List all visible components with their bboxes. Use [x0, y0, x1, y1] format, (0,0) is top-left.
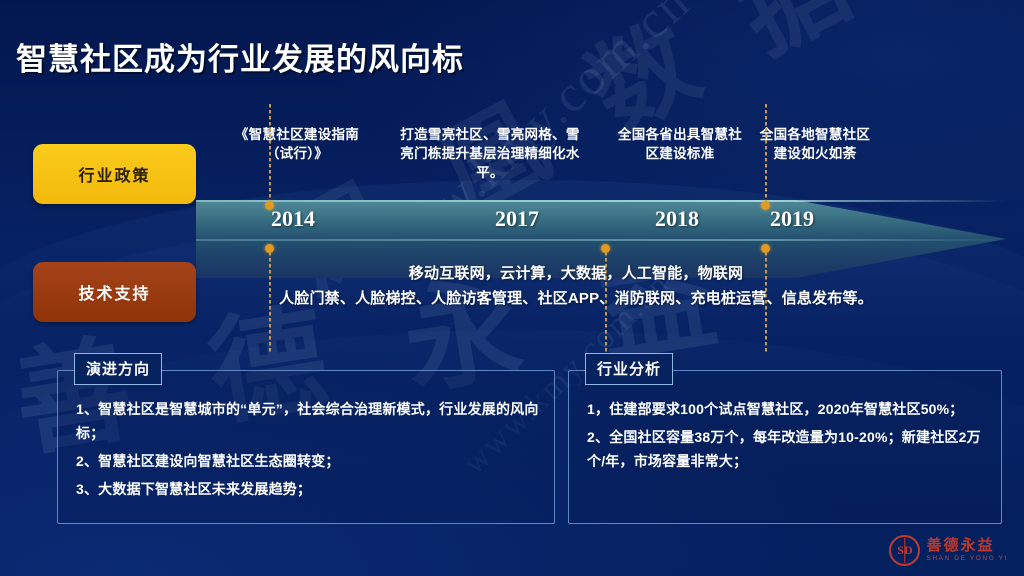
- milestone-text-2019: 全国各地智慧社区建设如火如荼: [755, 125, 875, 163]
- milestone-year-2018: 2018: [655, 206, 699, 232]
- panel-industry-analysis: 行业分析 1，住建部要求100个试点智慧社区，2020年智慧社区50%； 2、全…: [568, 370, 1002, 524]
- panel-evolution-direction: 演进方向 1、智慧社区是智慧城市的“单元”，社会综合治理新模式，行业发展的风向标…: [57, 370, 555, 524]
- milestone-text-2017: 打造雪亮社区、雪亮网格、雪亮门栋提升基层治理精细化水平。: [400, 125, 580, 182]
- tech-support-line-1: 移动互联网，云计算，大数据，人工智能，物联网: [196, 262, 956, 287]
- milestone-dot-2019: [761, 201, 770, 210]
- panel-line: 2、全国社区容量38万个，每年改造量为10-20%；新建社区2万个/年，市场容量…: [587, 425, 989, 473]
- logo-emblem-icon: SD: [889, 535, 920, 566]
- panel-line: 2、智慧社区建设向智慧社区生态圈转变；: [76, 449, 542, 473]
- panel-tab-evolution-direction: 演进方向: [74, 353, 162, 385]
- panel-tab-industry-analysis: 行业分析: [585, 353, 673, 385]
- panel-line: 1、智慧社区是智慧城市的“单元”，社会综合治理新模式，行业发展的风向标；: [76, 397, 542, 445]
- logo-name-cn: 善德永益: [926, 538, 1008, 553]
- tech-support-line-2: 人脸门禁、人脸梯控、人脸访客管理、社区APP、消防联网、充电桩运营、信息发布等。: [196, 287, 956, 312]
- milestone-text-2018: 全国各省出具智慧社区建设标准: [615, 125, 745, 163]
- panel-line: 1，住建部要求100个试点智慧社区，2020年智慧社区50%；: [587, 397, 989, 421]
- panel-body-evolution-direction: 1、智慧社区是智慧城市的“单元”，社会综合治理新模式，行业发展的风向标； 2、智…: [76, 397, 542, 505]
- timeline-arrow-top-edge: [196, 200, 1006, 202]
- timeline-arrow-highlight: [196, 200, 1006, 238]
- milestone-year-2014: 2014: [271, 206, 315, 232]
- tech-support-text: 移动互联网，云计算，大数据，人工智能，物联网 人脸门禁、人脸梯控、人脸访客管理、…: [196, 262, 956, 312]
- milestone-text-2014: 《智慧社区建设指南（试行）》: [232, 125, 362, 163]
- logo-text: 善德永益 SHAN DE YONG YI: [926, 538, 1008, 563]
- milestone-year-2017: 2017: [495, 206, 539, 232]
- company-logo: SD 善德永益 SHAN DE YONG YI: [889, 535, 1008, 566]
- page-title: 智慧社区成为行业发展的风向标: [16, 34, 464, 79]
- panel-line: 3、大数据下智慧社区未来发展趋势；: [76, 477, 542, 501]
- badge-tech-support[interactable]: 技术支持: [33, 262, 196, 322]
- milestone-connector-2014: [269, 104, 271, 204]
- badge-industry-policy[interactable]: 行业政策: [33, 144, 196, 204]
- panel-body-industry-analysis: 1，住建部要求100个试点智慧社区，2020年智慧社区50%； 2、全国社区容量…: [587, 397, 989, 477]
- slide-canvas: 善 德 永 益 凤 凰 数 据 www.kmy.com.cn www.kmy.c…: [0, 0, 1024, 576]
- milestone-year-2019: 2019: [770, 206, 814, 232]
- timeline-arrow-split-line: [196, 239, 1006, 241]
- milestone-connector-2019: [765, 104, 767, 204]
- logo-name-en: SHAN DE YONG YI: [926, 556, 1008, 563]
